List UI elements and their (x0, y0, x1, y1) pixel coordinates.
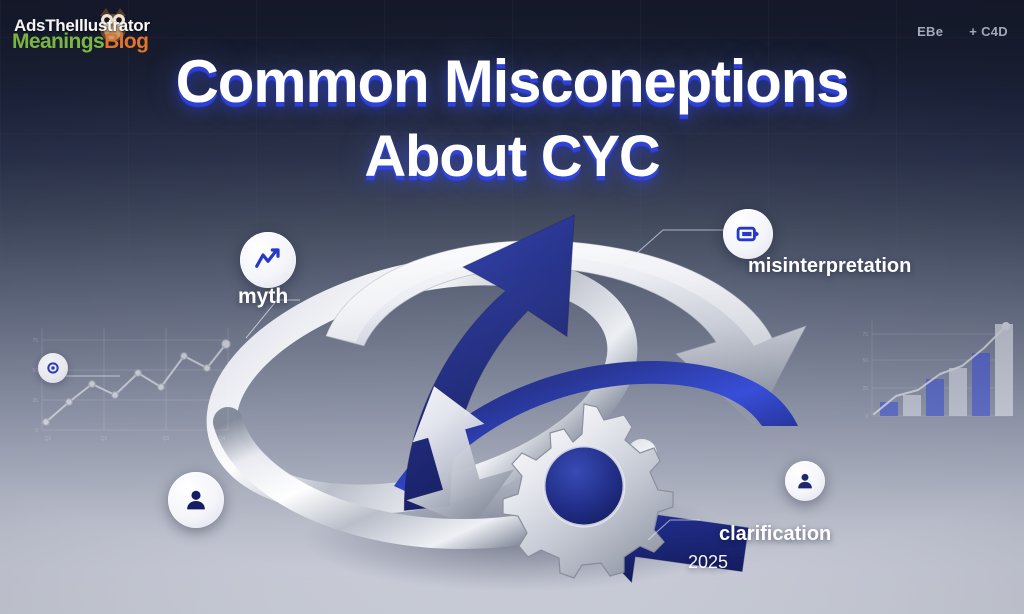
right-bar-chart: 025 5075 (848, 312, 1016, 430)
page-title: Common Misconeptions About CYC (0, 52, 1024, 186)
svg-text:75: 75 (32, 338, 38, 344)
node-label-misinterpretation: misinterpretation (748, 255, 911, 278)
svg-text:0: 0 (865, 414, 868, 420)
badge-clarification[interactable] (785, 461, 825, 501)
person-icon (794, 470, 816, 492)
svg-text:25: 25 (862, 386, 868, 392)
message-rect-icon (734, 220, 762, 248)
trending-up-icon (253, 245, 283, 275)
watermark-line-2: MeaningsBlog (12, 30, 148, 54)
credit-item-1: EBe (917, 24, 943, 39)
badge-marker[interactable] (38, 353, 68, 383)
watermark-blog: Blog (104, 30, 148, 53)
node-label-clarification: clarification (719, 523, 831, 546)
poster-canvas: 025 5075 Q1Q2 Q3Q4 (0, 0, 1024, 614)
person-icon (182, 486, 210, 514)
svg-text:50: 50 (862, 358, 868, 364)
svg-text:Q1: Q1 (45, 436, 52, 442)
svg-text:Q4: Q4 (219, 436, 226, 442)
watermark-logo[interactable]: AdsTheIllustrator MeaningsBlog (6, 4, 156, 56)
left-line-chart: 025 5075 Q1Q2 Q3Q4 (14, 318, 239, 448)
svg-text:Q2: Q2 (101, 436, 108, 442)
badge-misinterpretation[interactable] (723, 209, 773, 259)
svg-text:Q3: Q3 (163, 436, 170, 442)
shield-badge-icon (45, 360, 61, 376)
credit-item-2: + C4D (969, 24, 1008, 39)
credit-text: EBe + C4D (917, 24, 1008, 39)
svg-text:25: 25 (32, 398, 38, 404)
badge-myth[interactable] (240, 232, 296, 288)
title-line-2: About CYC (0, 128, 1024, 186)
svg-text:0: 0 (35, 428, 38, 434)
node-label-myth: myth (238, 285, 288, 309)
badge-user[interactable] (168, 472, 224, 528)
svg-text:75: 75 (862, 332, 868, 338)
title-line-1: Common Misconeptions (0, 52, 1024, 112)
watermark-meanings: Meanings (12, 30, 104, 53)
year-label: 2025 (688, 552, 728, 573)
